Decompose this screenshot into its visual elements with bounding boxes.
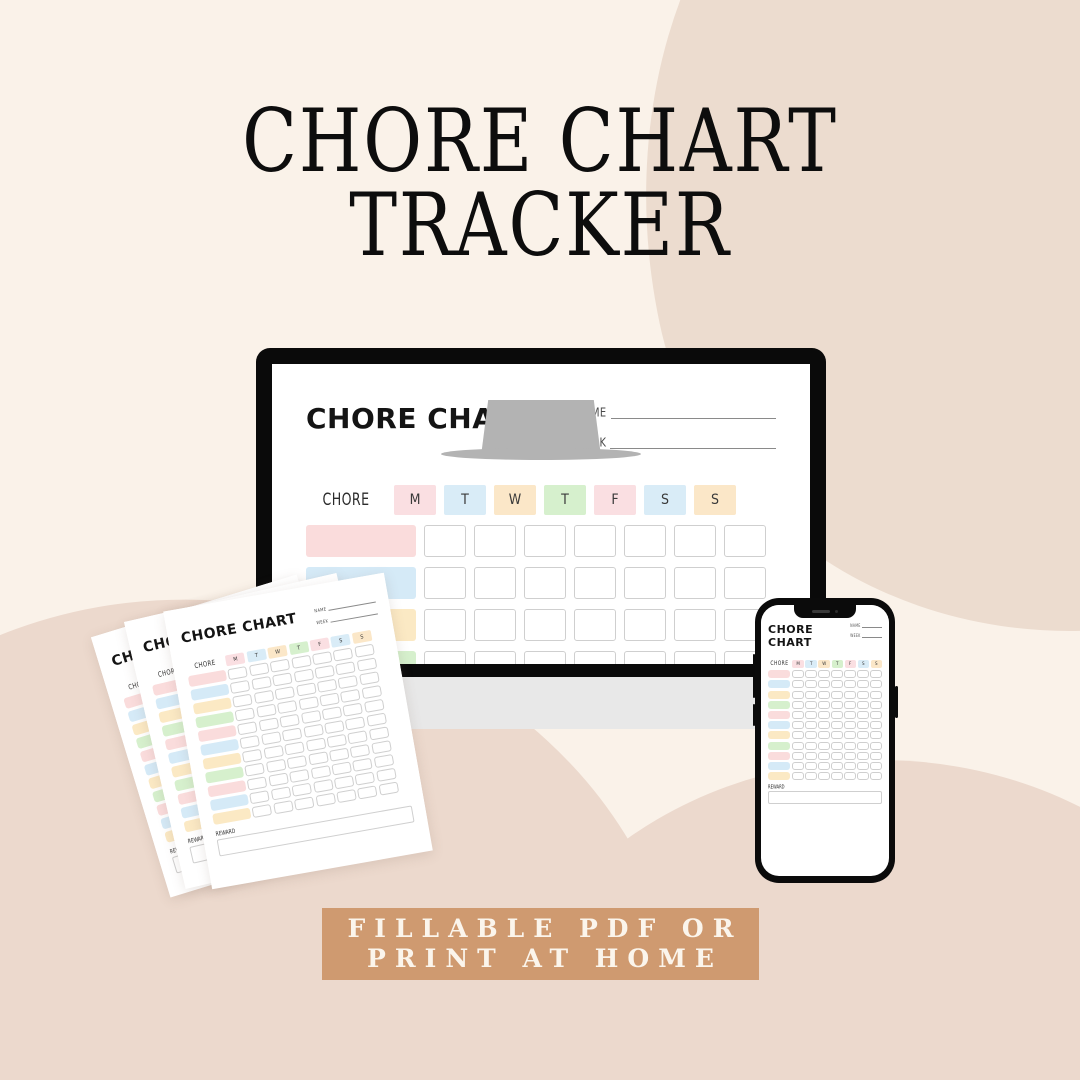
- checkbox-cell[interactable]: [263, 745, 284, 759]
- table-row: [768, 670, 882, 678]
- day-header-2: W: [818, 660, 829, 668]
- checkbox-cell[interactable]: [831, 742, 842, 750]
- chore-name-input[interactable]: [768, 752, 790, 760]
- checkbox-cell[interactable]: [574, 651, 616, 664]
- chore-name-input[interactable]: [768, 742, 790, 750]
- chore-name-input[interactable]: [768, 670, 790, 678]
- table-row: [768, 691, 882, 699]
- checkbox-cell[interactable]: [844, 680, 855, 688]
- checkbox-cell[interactable]: [424, 609, 466, 641]
- day-header-5: S: [331, 634, 352, 648]
- checkbox-cell[interactable]: [724, 567, 766, 599]
- checkbox-cell[interactable]: [357, 785, 378, 799]
- checkbox-cell[interactable]: [805, 680, 816, 688]
- chart-rows: [768, 670, 882, 780]
- chore-column-label: CHORE: [768, 660, 791, 667]
- checkbox-cell[interactable]: [308, 751, 329, 765]
- checkbox-cell[interactable]: [293, 669, 314, 683]
- checkbox-cell[interactable]: [870, 731, 881, 739]
- checkbox-cell[interactable]: [301, 710, 322, 724]
- checkbox-cell[interactable]: [805, 721, 816, 729]
- checkbox-cell[interactable]: [329, 748, 350, 762]
- checkbox-cell[interactable]: [333, 647, 354, 661]
- name-input-line[interactable]: [862, 627, 882, 628]
- checkbox-cell[interactable]: [331, 761, 352, 775]
- day-header-4: F: [594, 485, 636, 515]
- day-header-row: CHORE MTWTFSS: [768, 660, 882, 668]
- checkbox-cell[interactable]: [844, 670, 855, 678]
- name-field[interactable]: NAME: [576, 406, 776, 419]
- week-label: WEEK: [316, 618, 329, 626]
- checkbox-cell[interactable]: [674, 525, 716, 557]
- checkbox-cell[interactable]: [674, 567, 716, 599]
- day-header-2: W: [267, 645, 288, 659]
- checkbox-cell[interactable]: [857, 762, 868, 770]
- checkbox-cell[interactable]: [792, 742, 803, 750]
- checkbox-cell[interactable]: [524, 609, 566, 641]
- checkbox-cell[interactable]: [870, 701, 881, 709]
- checkbox-cell[interactable]: [252, 804, 273, 818]
- checkbox-cell[interactable]: [249, 790, 270, 804]
- phone-screen: CHORE CHART NAME WEEK CHORE MTWT: [761, 605, 889, 876]
- checkbox-cell[interactable]: [624, 525, 666, 557]
- chore-name-input[interactable]: [212, 808, 251, 825]
- checkbox-cell[interactable]: [298, 696, 319, 710]
- name-field[interactable]: NAME: [850, 624, 882, 628]
- day-header-3: T: [288, 641, 309, 655]
- checkbox-cell[interactable]: [805, 731, 816, 739]
- checkbox-cell[interactable]: [326, 734, 347, 748]
- checkbox-cell[interactable]: [424, 525, 466, 557]
- checkbox-cell[interactable]: [340, 689, 361, 703]
- checkbox-cell[interactable]: [857, 691, 868, 699]
- sheet-header: CHORE CHART NAME WEEK: [768, 623, 882, 649]
- checkbox-cell[interactable]: [361, 685, 382, 699]
- table-row: [768, 772, 882, 780]
- checkbox-cell[interactable]: [366, 713, 387, 727]
- checkbox-cell[interactable]: [831, 762, 842, 770]
- checkbox-cell[interactable]: [844, 762, 855, 770]
- checkbox-cell[interactable]: [857, 680, 868, 688]
- checkbox-cell[interactable]: [335, 661, 356, 675]
- checkbox-cell[interactable]: [282, 727, 303, 741]
- checkbox-cell[interactable]: [268, 773, 289, 787]
- day-header-row: CHORE MTWTFSS: [306, 485, 776, 515]
- checkbox-cell[interactable]: [355, 772, 376, 786]
- checkbox-cell[interactable]: [870, 721, 881, 729]
- checkbox-cell[interactable]: [292, 783, 313, 797]
- checkbox-cell[interactable]: [792, 701, 803, 709]
- checkbox-cell[interactable]: [273, 800, 294, 814]
- day-header-3: T: [544, 485, 586, 515]
- smartphone: CHORE CHART NAME WEEK CHORE MTWT: [755, 598, 895, 883]
- chore-chart-sheet: CHORE CHART NAME WEEK CHORE MTWT: [761, 605, 889, 804]
- checkbox-cell[interactable]: [792, 711, 803, 719]
- checkbox-cell[interactable]: [284, 741, 305, 755]
- checkbox-cell[interactable]: [371, 740, 392, 754]
- checkbox-cell[interactable]: [303, 724, 324, 738]
- checkbox-cell[interactable]: [870, 670, 881, 678]
- day-header-6: S: [694, 485, 736, 515]
- checkbox-cell[interactable]: [254, 690, 275, 704]
- checkbox-cell[interactable]: [296, 682, 317, 696]
- day-header-0: M: [225, 652, 246, 666]
- checkbox-cell[interactable]: [818, 680, 829, 688]
- checkbox-cell[interactable]: [844, 711, 855, 719]
- chore-name-input[interactable]: [768, 772, 790, 780]
- day-header-3: T: [832, 660, 843, 668]
- checkbox-cell[interactable]: [343, 703, 364, 717]
- checkbox-cell[interactable]: [870, 772, 881, 780]
- checkbox-cell[interactable]: [272, 672, 293, 686]
- chore-name-input[interactable]: [768, 711, 790, 719]
- checkbox-cell[interactable]: [338, 675, 359, 689]
- checkbox-cell[interactable]: [350, 744, 371, 758]
- day-header-5: S: [858, 660, 869, 668]
- checkbox-cell[interactable]: [424, 567, 466, 599]
- chore-name-input[interactable]: [768, 701, 790, 709]
- checkbox-cell[interactable]: [315, 793, 336, 807]
- checkbox-cell[interactable]: [818, 701, 829, 709]
- checkbox-cell[interactable]: [359, 671, 380, 685]
- checkbox-cell[interactable]: [317, 679, 338, 693]
- checkbox-cell[interactable]: [857, 670, 868, 678]
- checkbox-cell[interactable]: [348, 730, 369, 744]
- checkbox-cell[interactable]: [870, 742, 881, 750]
- chore-name-input[interactable]: [306, 525, 416, 557]
- checkbox-cell[interactable]: [831, 721, 842, 729]
- volume-down-button[interactable]: [753, 704, 756, 726]
- checkbox-cell[interactable]: [857, 752, 868, 760]
- chore-chart-sheet: CHORE CHART NAME WEEK CHORE MTWTFSS REWA…: [163, 573, 427, 859]
- checkbox-cell[interactable]: [277, 700, 298, 714]
- banner-line-2: PRINT AT HOME: [358, 944, 723, 975]
- chore-name-input[interactable]: [768, 721, 790, 729]
- checkbox-cell[interactable]: [857, 711, 868, 719]
- checkbox-cell[interactable]: [574, 567, 616, 599]
- checkbox-cell[interactable]: [474, 651, 516, 664]
- checkbox-cell[interactable]: [870, 711, 881, 719]
- checkbox-cell[interactable]: [831, 670, 842, 678]
- day-header-4: F: [845, 660, 856, 668]
- banner-line-1: FILLABLE PDF OR: [339, 914, 743, 945]
- checkbox-cell[interactable]: [287, 755, 308, 769]
- checkbox-cell[interactable]: [857, 731, 868, 739]
- checkbox-cell[interactable]: [232, 694, 253, 708]
- checkbox-cell[interactable]: [792, 772, 803, 780]
- checkbox-cell[interactable]: [805, 762, 816, 770]
- checkbox-cell[interactable]: [474, 567, 516, 599]
- page-title: CHORE CHART TRACKER: [0, 104, 1080, 265]
- checkbox-cell[interactable]: [844, 772, 855, 780]
- checkbox-cell[interactable]: [831, 691, 842, 699]
- chore-name-input[interactable]: [768, 691, 790, 699]
- chore-name-input[interactable]: [768, 762, 790, 770]
- day-header-6: S: [352, 630, 373, 644]
- checkbox-cell[interactable]: [792, 691, 803, 699]
- checkbox-cell[interactable]: [624, 567, 666, 599]
- sheet-title: CHORE CHART: [180, 611, 298, 647]
- day-header-1: T: [805, 660, 816, 668]
- checkbox-cell[interactable]: [870, 752, 881, 760]
- front-camera-icon: [835, 610, 839, 614]
- checkbox-cell[interactable]: [289, 769, 310, 783]
- mute-switch[interactable]: [753, 654, 756, 667]
- chore-name-input[interactable]: [768, 731, 790, 739]
- checkbox-cell[interactable]: [818, 752, 829, 760]
- volume-up-button[interactable]: [753, 676, 756, 698]
- table-row: [306, 525, 776, 557]
- checkbox-cell[interactable]: [319, 692, 340, 706]
- checkbox-cell[interactable]: [805, 711, 816, 719]
- day-header-1: T: [444, 485, 486, 515]
- checkbox-cell[interactable]: [524, 525, 566, 557]
- table-row: [768, 752, 882, 760]
- phone-notch: [794, 605, 856, 618]
- checkbox-cell[interactable]: [249, 662, 270, 676]
- checkbox-cell[interactable]: [524, 651, 566, 664]
- checkbox-cell[interactable]: [831, 701, 842, 709]
- sheet-fields: NAME WEEK: [850, 624, 882, 638]
- checkbox-cell[interactable]: [624, 609, 666, 641]
- name-label: NAME: [314, 606, 327, 614]
- checkbox-cell[interactable]: [345, 716, 366, 730]
- checkbox-cell[interactable]: [294, 796, 315, 810]
- earpiece-speaker-icon: [812, 610, 830, 613]
- reward-input-box[interactable]: [768, 791, 882, 804]
- week-field[interactable]: WEEK: [576, 436, 776, 449]
- checkbox-cell[interactable]: [724, 525, 766, 557]
- table-row: [768, 680, 882, 688]
- reward-label: REWARD: [768, 784, 882, 790]
- checkbox-cell[interactable]: [818, 670, 829, 678]
- checkbox-cell[interactable]: [291, 655, 312, 669]
- checkbox-cell[interactable]: [818, 742, 829, 750]
- checkbox-cell[interactable]: [624, 651, 666, 664]
- table-row: [768, 762, 882, 770]
- checkbox-cell[interactable]: [857, 721, 868, 729]
- checkbox-cell[interactable]: [674, 609, 716, 641]
- name-input-line[interactable]: [611, 418, 776, 419]
- checkbox-cell[interactable]: [818, 731, 829, 739]
- table-row: [768, 731, 882, 739]
- checkbox-cell[interactable]: [245, 762, 266, 776]
- checkbox-cell[interactable]: [805, 701, 816, 709]
- table-row: [768, 721, 882, 729]
- checkbox-cell[interactable]: [870, 691, 881, 699]
- power-button[interactable]: [895, 686, 898, 718]
- checkbox-cell[interactable]: [240, 735, 261, 749]
- chart-rows: [188, 642, 409, 825]
- checkbox-cell[interactable]: [818, 691, 829, 699]
- chore-name-input[interactable]: [768, 680, 790, 688]
- checkbox-cell[interactable]: [870, 762, 881, 770]
- checkbox-cell[interactable]: [364, 699, 385, 713]
- checkbox-cell[interactable]: [352, 758, 373, 772]
- sheet-title: CHORE CHART: [768, 623, 850, 649]
- checkbox-cell[interactable]: [857, 701, 868, 709]
- checkbox-cell[interactable]: [844, 691, 855, 699]
- checkbox-cell[interactable]: [792, 731, 803, 739]
- checkbox-cell[interactable]: [792, 762, 803, 770]
- checkbox-cell[interactable]: [373, 754, 394, 768]
- week-input-line[interactable]: [610, 448, 776, 449]
- day-header-1: T: [246, 648, 267, 662]
- checkbox-cell[interactable]: [256, 704, 277, 718]
- checkbox-cell[interactable]: [857, 772, 868, 780]
- checkbox-cell[interactable]: [305, 738, 326, 752]
- title-line-1: CHORE CHART: [43, 99, 1037, 185]
- checkbox-cell[interactable]: [334, 775, 355, 789]
- checkbox-cell[interactable]: [792, 721, 803, 729]
- checkbox-cell[interactable]: [792, 670, 803, 678]
- checkbox-cell[interactable]: [524, 567, 566, 599]
- checkbox-cell[interactable]: [354, 644, 375, 658]
- listing-graphic: CHORE CHART TRACKER CHORE CHART NAME WEE…: [0, 0, 1080, 1080]
- checkbox-cell[interactable]: [844, 731, 855, 739]
- checkbox-cell[interactable]: [805, 752, 816, 760]
- checkbox-cell[interactable]: [251, 676, 272, 690]
- checkbox-cell[interactable]: [818, 772, 829, 780]
- table-row: [768, 711, 882, 719]
- checkbox-cell[interactable]: [805, 670, 816, 678]
- name-input-line[interactable]: [329, 602, 376, 611]
- checkbox-cell[interactable]: [805, 772, 816, 780]
- checkbox-cell[interactable]: [831, 731, 842, 739]
- checkbox-cell[interactable]: [818, 711, 829, 719]
- title-line-2: TRACKER: [43, 184, 1037, 270]
- checkbox-cell[interactable]: [818, 721, 829, 729]
- day-header-5: S: [644, 485, 686, 515]
- day-header-6: S: [871, 660, 882, 668]
- checkbox-cell[interactable]: [279, 714, 300, 728]
- checkbox-cell[interactable]: [857, 742, 868, 750]
- table-row: [768, 701, 882, 709]
- checkbox-cell[interactable]: [336, 789, 357, 803]
- checkbox-cell[interactable]: [312, 651, 333, 665]
- promo-banner: FILLABLE PDF OR PRINT AT HOME: [322, 908, 759, 980]
- checkbox-cell[interactable]: [369, 726, 390, 740]
- checkbox-cell[interactable]: [844, 721, 855, 729]
- checkbox-cell[interactable]: [792, 680, 803, 688]
- checkbox-cell[interactable]: [792, 752, 803, 760]
- week-label: WEEK: [850, 634, 860, 639]
- checkbox-cell[interactable]: [228, 666, 249, 680]
- checkbox-cell[interactable]: [805, 691, 816, 699]
- checkbox-cell[interactable]: [424, 651, 466, 664]
- checkbox-cell[interactable]: [266, 759, 287, 773]
- checkbox-cell[interactable]: [831, 711, 842, 719]
- chore-column-label: CHORE: [306, 490, 386, 509]
- checkbox-cell[interactable]: [674, 651, 716, 664]
- checkbox-cell[interactable]: [474, 609, 516, 641]
- checkbox-cell[interactable]: [237, 721, 258, 735]
- checkbox-cell[interactable]: [818, 762, 829, 770]
- checkbox-cell[interactable]: [574, 525, 616, 557]
- checkbox-cell[interactable]: [247, 776, 268, 790]
- day-header-4: F: [309, 637, 330, 651]
- checkbox-cell[interactable]: [474, 525, 516, 557]
- checkbox-cell[interactable]: [270, 659, 291, 673]
- checkbox-cell[interactable]: [870, 680, 881, 688]
- day-header-0: M: [394, 485, 436, 515]
- checkbox-cell[interactable]: [378, 782, 399, 796]
- checkbox-cell[interactable]: [230, 680, 251, 694]
- checkbox-cell[interactable]: [844, 752, 855, 760]
- day-header-0: M: [792, 660, 803, 668]
- checkbox-cell[interactable]: [271, 786, 292, 800]
- checkbox-cell[interactable]: [322, 706, 343, 720]
- sheet-fields: NAME WEEK: [314, 598, 378, 626]
- checkbox-cell[interactable]: [574, 609, 616, 641]
- checkbox-cell[interactable]: [313, 779, 334, 793]
- checkbox-cell[interactable]: [805, 742, 816, 750]
- week-field[interactable]: WEEK: [850, 634, 882, 638]
- checkbox-cell[interactable]: [831, 680, 842, 688]
- checkbox-cell[interactable]: [275, 686, 296, 700]
- checkbox-cell[interactable]: [242, 749, 263, 763]
- week-input-line[interactable]: [862, 637, 882, 638]
- checkbox-cell[interactable]: [356, 657, 377, 671]
- sheet-fields: NAME WEEK: [576, 406, 776, 449]
- checkbox-cell[interactable]: [235, 707, 256, 721]
- week-input-line[interactable]: [331, 613, 378, 622]
- checkbox-cell[interactable]: [261, 731, 282, 745]
- checkbox-cell[interactable]: [844, 742, 855, 750]
- checkbox-cell[interactable]: [314, 665, 335, 679]
- checkbox-cell[interactable]: [258, 717, 279, 731]
- printed-sheet-front: CHORE CHART NAME WEEK CHORE MTWTFSS REWA…: [163, 573, 433, 890]
- checkbox-cell[interactable]: [831, 752, 842, 760]
- checkbox-cell[interactable]: [844, 701, 855, 709]
- day-header-2: W: [494, 485, 536, 515]
- checkbox-cell[interactable]: [310, 765, 331, 779]
- table-row: [768, 742, 882, 750]
- name-label: NAME: [850, 624, 861, 629]
- checkbox-cell[interactable]: [376, 768, 397, 782]
- checkbox-cell[interactable]: [831, 772, 842, 780]
- checkbox-cell[interactable]: [324, 720, 345, 734]
- monitor-stand-foot: [441, 448, 641, 460]
